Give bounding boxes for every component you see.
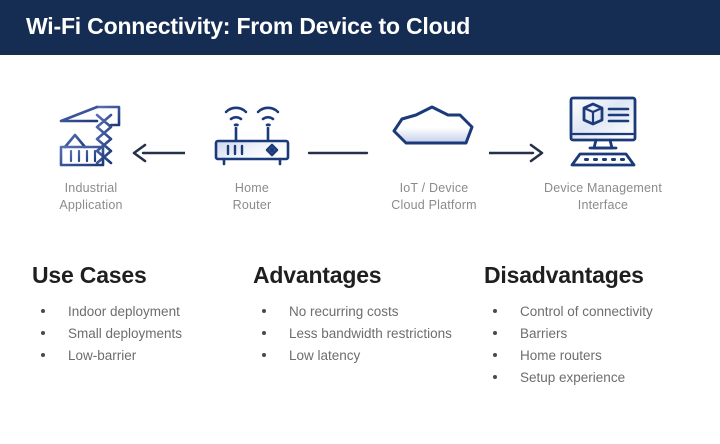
list-item: Indoor deployment (32, 301, 247, 322)
wifi-router-icon (177, 95, 327, 167)
diagram-node-label-line2: Interface (528, 197, 678, 214)
diagram-node-label-line1: Home (177, 180, 327, 197)
header-bar: Wi-Fi Connectivity: From Device to Cloud (0, 0, 720, 55)
diagram-node-label: Industrial Application (16, 180, 166, 214)
page-title: Wi-Fi Connectivity: From Device to Cloud (26, 13, 470, 40)
column-heading: Advantages (253, 262, 468, 289)
column-advantages: Advantages No recurring costs Less bandw… (253, 262, 468, 367)
diagram-node-label-line2: Router (177, 197, 327, 214)
list-item: Setup experience (484, 367, 712, 388)
connectivity-flow-diagram: Industrial Application (0, 55, 720, 245)
list-item: Small deployments (32, 323, 247, 344)
bullet-list: Control of connectivity Barriers Home ro… (484, 301, 712, 388)
bullet-list: No recurring costs Less bandwidth restri… (253, 301, 468, 366)
list-item: Less bandwidth restrictions (253, 323, 468, 344)
column-disadvantages: Disadvantages Control of connectivity Ba… (484, 262, 712, 389)
list-item: Home routers (484, 345, 712, 366)
diagram-node-label-line1: Industrial (16, 180, 166, 197)
comparison-columns: Use Cases Indoor deployment Small deploy… (0, 262, 720, 444)
bullet-list: Indoor deployment Small deployments Low-… (32, 301, 247, 366)
diagram-node-home-router: Home Router (177, 95, 327, 214)
list-item: Barriers (484, 323, 712, 344)
diagram-node-device-management-interface: Device Management Interface (528, 95, 678, 214)
monitor-icon (528, 95, 678, 167)
column-use-cases: Use Cases Indoor deployment Small deploy… (32, 262, 247, 367)
column-heading: Use Cases (32, 262, 247, 289)
column-heading: Disadvantages (484, 262, 712, 289)
diagram-node-label-line2: Application (16, 197, 166, 214)
diagram-node-label: Home Router (177, 180, 327, 214)
cloud-icon (359, 95, 509, 167)
diagram-node-label-line2: Cloud Platform (359, 197, 509, 214)
diagram-node-label-line1: Device Management (528, 180, 678, 197)
list-item: Low latency (253, 345, 468, 366)
list-item: Low-barrier (32, 345, 247, 366)
diagram-node-label-line1: IoT / Device (359, 180, 509, 197)
diagram-node-label: Device Management Interface (528, 180, 678, 214)
list-item: No recurring costs (253, 301, 468, 322)
list-item: Control of connectivity (484, 301, 712, 322)
diagram-node-cloud-platform: IoT / Device Cloud Platform (359, 95, 509, 214)
diagram-node-label: IoT / Device Cloud Platform (359, 180, 509, 214)
